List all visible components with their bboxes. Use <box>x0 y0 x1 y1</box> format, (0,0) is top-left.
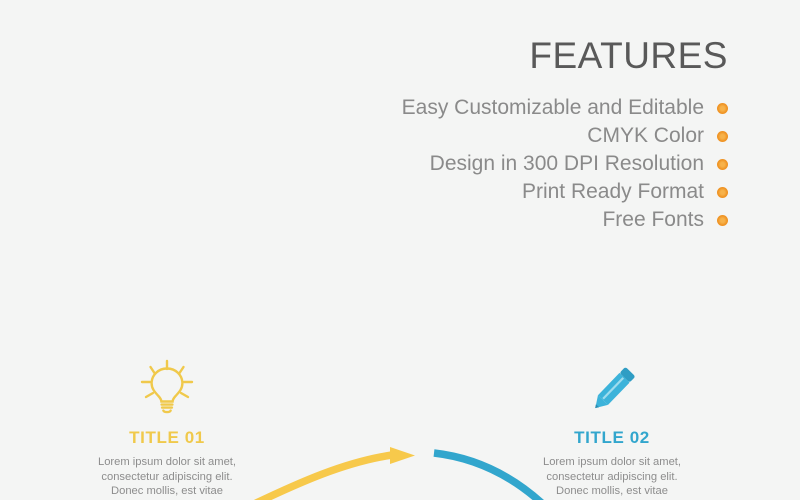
bullet-dot-icon <box>717 103 728 114</box>
features-block: FEATURES Easy Customizable and Editable … <box>402 34 728 234</box>
column-body-text: Lorem ipsum dolor sit amet, consectetur … <box>92 455 242 500</box>
slide-canvas: FEATURES Easy Customizable and Editable … <box>0 0 800 500</box>
features-list: Easy Customizable and Editable CMYK Colo… <box>402 94 728 234</box>
column-title: TITLE 02 <box>537 428 687 448</box>
bullet-dot-icon <box>717 159 728 170</box>
feature-label: Free Fonts <box>602 206 704 234</box>
feature-label: CMYK Color <box>587 122 704 150</box>
feature-column-2: TITLE 02 Lorem ipsum dolor sit amet, con… <box>537 358 687 500</box>
column-body-text: Lorem ipsum dolor sit amet, consectetur … <box>537 455 687 500</box>
feature-item: Design in 300 DPI Resolution <box>402 150 728 178</box>
feature-label: Print Ready Format <box>522 178 704 206</box>
feature-item: Free Fonts <box>402 206 728 234</box>
column-title: TITLE 01 <box>92 428 242 448</box>
yellow-arc-path <box>250 455 392 500</box>
yellow-arrowhead-icon <box>390 447 415 464</box>
feature-item: CMYK Color <box>402 122 728 150</box>
feature-label: Easy Customizable and Editable <box>402 94 704 122</box>
pencil-icon <box>537 358 687 418</box>
feature-column-1: TITLE 01 Lorem ipsum dolor sit amet, con… <box>92 358 242 500</box>
lightbulb-icon <box>92 358 242 418</box>
feature-label: Design in 300 DPI Resolution <box>430 150 704 178</box>
features-heading: FEATURES <box>402 34 728 78</box>
bullet-dot-icon <box>717 215 728 226</box>
bullet-dot-icon <box>717 131 728 142</box>
feature-item: Print Ready Format <box>402 178 728 206</box>
feature-item: Easy Customizable and Editable <box>402 94 728 122</box>
blue-arc-path <box>434 453 545 500</box>
bullet-dot-icon <box>717 187 728 198</box>
